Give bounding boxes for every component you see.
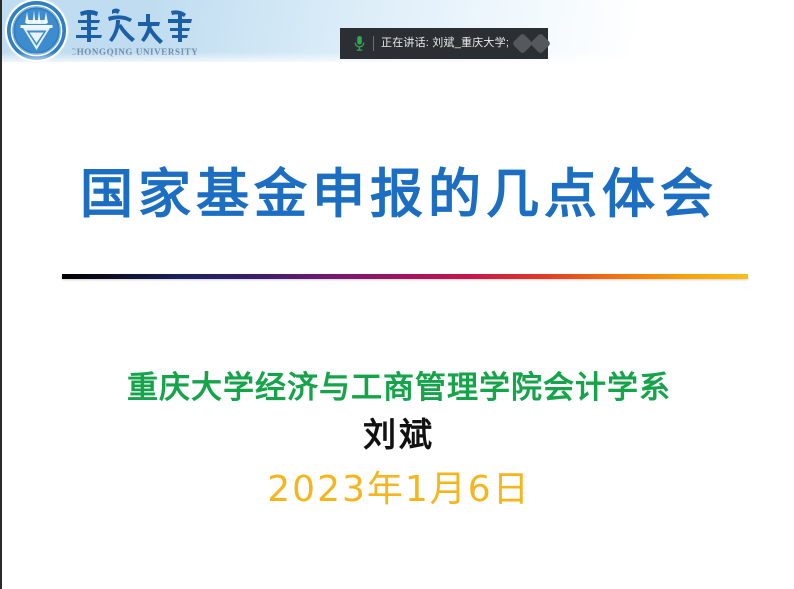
presentation-date: 2023年1月6日	[2, 460, 794, 512]
microphone-icon	[348, 32, 370, 56]
speaking-status-overlay: 正在讲话: 刘斌_重庆大学;	[340, 28, 548, 59]
speaking-status-text: 正在讲话: 刘斌_重庆大学;	[381, 38, 509, 49]
department-line: 重庆大学经济与工商管理学院会计学系	[2, 362, 794, 407]
presentation-slide: CHONGQING UNIVERSITY 正在讲话: 刘斌_重庆大学; 国家基金…	[0, 0, 794, 589]
chevron-waveform-icon	[515, 36, 548, 51]
slide-title: 国家基金申报的几点体会	[2, 166, 794, 224]
presenter-name: 刘斌	[2, 408, 794, 456]
overlay-divider	[373, 36, 374, 51]
rainbow-divider	[62, 274, 748, 279]
